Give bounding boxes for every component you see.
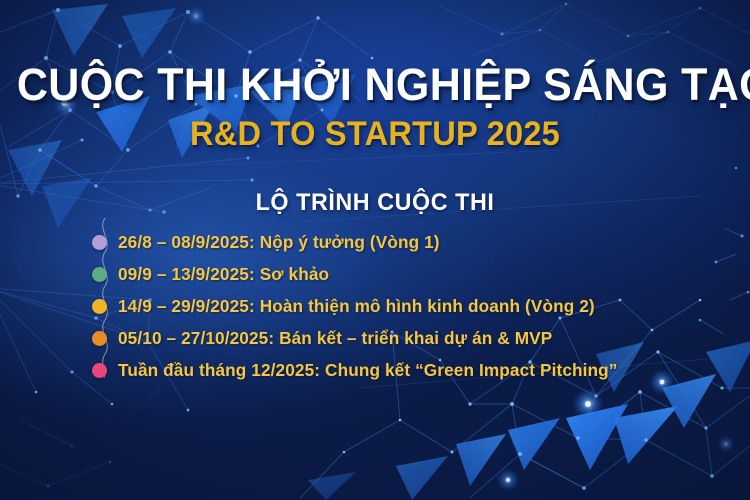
list-item: 26/8 – 08/9/2025: Nộp ý tưởng (Vòng 1) [92,226,692,258]
list-item: 09/9 – 13/9/2025: Sơ khảo [92,258,692,290]
roadmap-label-5: Tuần đầu tháng 12/2025: Chung kết “Green… [118,360,618,380]
roadmap-label-4: 05/10 – 27/10/2025: Bán kết – triển khai… [118,328,552,348]
poster-content: CUỘC THI KHỞI NGHIỆP SÁNG TẠO R&D TO STA… [0,0,750,500]
roadmap-list: 26/8 – 08/9/2025: Nộp ý tưởng (Vòng 1) 0… [92,226,692,386]
list-item: Tuần đầu tháng 12/2025: Chung kết “Green… [92,354,692,386]
roadmap-label-2: 09/9 – 13/9/2025: Sơ khảo [118,264,329,284]
roadmap-bullet-4 [92,331,107,346]
title-block: CUỘC THI KHỞI NGHIỆP SÁNG TẠO R&D TO STA… [0,62,750,152]
poster-canvas: CUỘC THI KHỞI NGHIỆP SÁNG TẠO R&D TO STA… [0,0,750,500]
page-subtitle: R&D TO STARTUP 2025 [15,116,735,152]
roadmap-bullet-5 [92,363,107,378]
section-heading-roadmap: LỘ TRÌNH CUỘC THI [11,190,739,216]
list-item: 05/10 – 27/10/2025: Bán kết – triển khai… [92,322,692,354]
page-title: CUỘC THI KHỞI NGHIỆP SÁNG TẠO [17,62,733,108]
roadmap-bullet-3 [92,299,107,314]
roadmap-label-1: 26/8 – 08/9/2025: Nộp ý tưởng (Vòng 1) [118,232,440,252]
roadmap-label-3: 14/9 – 29/9/2025: Hoàn thiện mô hình kin… [118,296,595,316]
list-item: 14/9 – 29/9/2025: Hoàn thiện mô hình kin… [92,290,692,322]
roadmap-bullet-1 [92,235,107,250]
roadmap-bullet-2 [92,267,107,282]
